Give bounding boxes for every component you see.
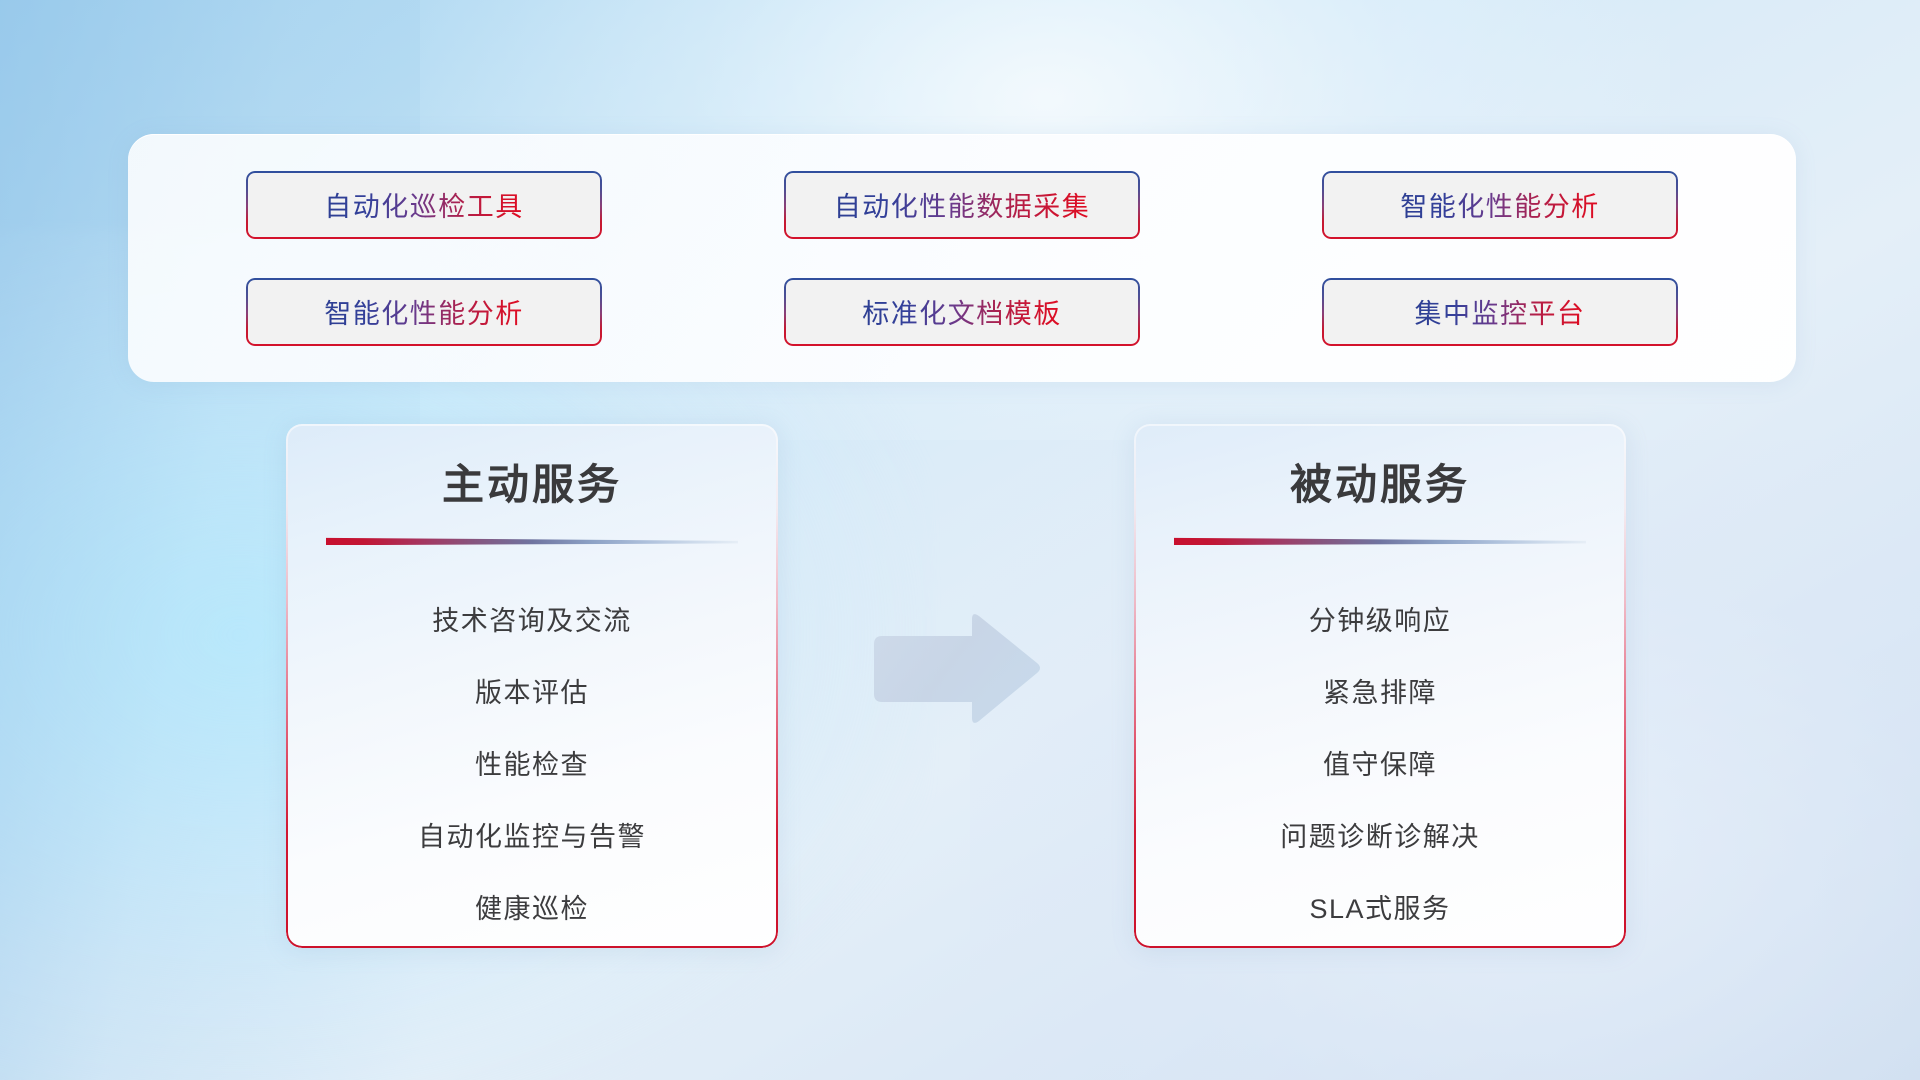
- card-title-divider: [326, 537, 738, 545]
- capability-pill-label: 自动化性能数据采集: [834, 185, 1091, 224]
- service-list-item: 版本评估: [475, 657, 589, 729]
- card-title-divider-shape: [326, 537, 738, 545]
- card-title: 被动服务: [1174, 462, 1586, 508]
- service-list: 分钟级响应 紧急排障 值守保障 问题诊断诊解决 SLA式服务: [1174, 585, 1586, 945]
- card-title: 主动服务: [326, 462, 738, 508]
- capability-pill-panel: 自动化巡检工具 自动化性能数据采集 智能化性能分析 智能化性能分析 标准化文档模…: [128, 134, 1796, 382]
- service-list-item: 分钟级响应: [1309, 585, 1452, 657]
- capability-pill-label: 集中监控平台: [1415, 292, 1586, 331]
- capability-pill-5[interactable]: 标准化文档模板: [784, 278, 1140, 346]
- right-arrow-icon: [868, 610, 1042, 728]
- capability-pill-3[interactable]: 智能化性能分析: [1322, 171, 1678, 239]
- card-title-divider: [1174, 537, 1586, 545]
- service-list-item: 紧急排障: [1323, 657, 1437, 729]
- service-card-proactive: 主动服务 技术咨询及交流 版本评估 性能检查 自动化监控与告警 健康巡检: [286, 424, 778, 948]
- service-list-item: 问题诊断诊解决: [1280, 801, 1480, 873]
- service-list-item: 技术咨询及交流: [432, 585, 632, 657]
- capability-pill-2[interactable]: 自动化性能数据采集: [784, 171, 1140, 239]
- capability-pill-label: 智能化性能分析: [324, 292, 524, 331]
- service-list-item: 健康巡检: [475, 873, 589, 945]
- capability-pill-label: 自动化巡检工具: [324, 185, 524, 224]
- service-list-item: SLA式服务: [1309, 873, 1450, 945]
- service-list-item: 值守保障: [1323, 729, 1437, 801]
- capability-pill-label: 标准化文档模板: [862, 292, 1062, 331]
- service-list: 技术咨询及交流 版本评估 性能检查 自动化监控与告警 健康巡检: [326, 585, 738, 945]
- capability-pill-1[interactable]: 自动化巡检工具: [246, 171, 602, 239]
- capability-pill-label: 智能化性能分析: [1400, 185, 1600, 224]
- capability-pill-4[interactable]: 智能化性能分析: [246, 278, 602, 346]
- service-list-item: 自动化监控与告警: [418, 801, 646, 873]
- service-list-item: 性能检查: [475, 729, 589, 801]
- capability-pill-6[interactable]: 集中监控平台: [1322, 278, 1678, 346]
- card-title-divider-shape: [1174, 537, 1586, 545]
- service-card-reactive: 被动服务 分钟级响应 紧急排障 值守保障 问题诊断诊解决 SLA式服务: [1134, 424, 1626, 948]
